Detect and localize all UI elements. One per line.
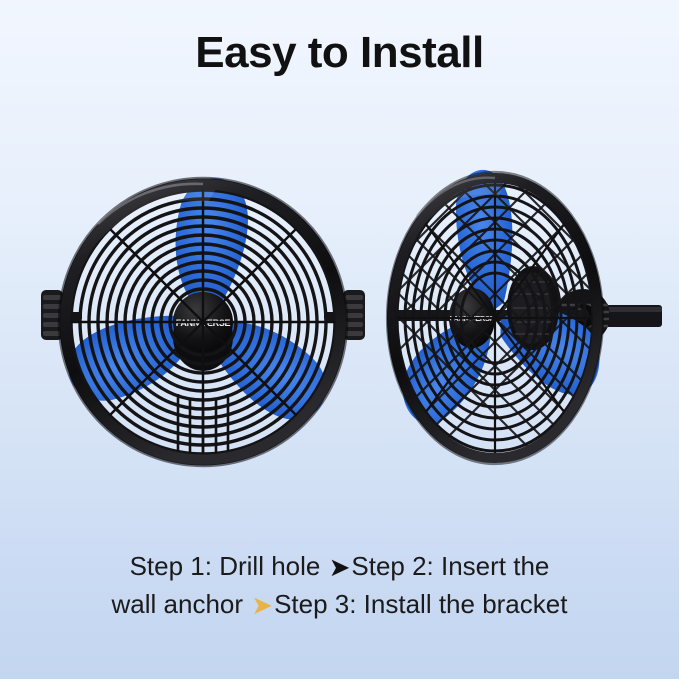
caption-step-2-continuation: wall anchor: [112, 589, 251, 619]
caption-step-3-text: Step 3: Install the bracket: [274, 589, 567, 619]
right-fan-illustration: FANNIVERSE: [355, 158, 675, 478]
caption-line-2: wall anchor ➤Step 3: Install the bracket: [0, 586, 679, 624]
arrow-right-icon-1: ➤: [328, 549, 352, 586]
left-fan-illustration: FANNIVERSE: [38, 162, 368, 482]
page-title: Easy to Install: [0, 28, 679, 79]
product-image-right-fan: FANNIVERSE: [355, 158, 675, 478]
product-image-area: FANNIVERSE: [0, 150, 679, 490]
caption-step-1-text: Step 1: Drill hole: [130, 551, 328, 581]
arrow-right-icon-2: ➤: [250, 587, 274, 624]
caption-step-2-text: Step 2: Insert the: [351, 551, 549, 581]
product-image-left-fan: FANNIVERSE: [38, 162, 368, 482]
install-steps-caption: Step 1: Drill hole ➤Step 2: Insert the w…: [0, 548, 679, 624]
caption-line-1: Step 1: Drill hole ➤Step 2: Insert the: [0, 548, 679, 586]
product-infographic-poster: Easy to Install: [0, 0, 679, 679]
